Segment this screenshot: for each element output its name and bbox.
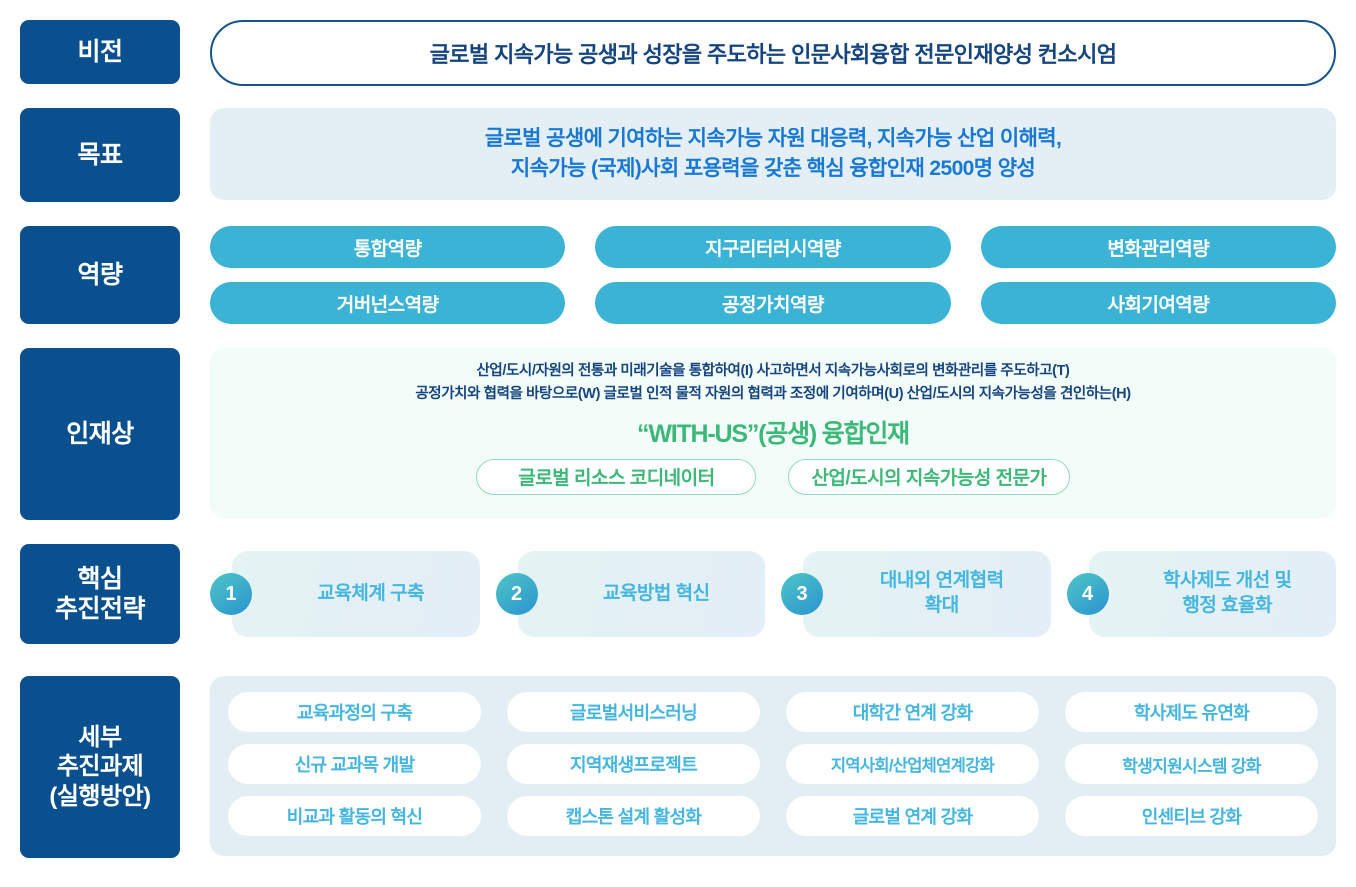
task-pill[interactable]: 교육과정의 구축: [228, 692, 481, 732]
talent-panel: 산업/도시/자원의 전통과 미래기술을 통합하여(I) 사고하면서 지속가능사회…: [210, 348, 1336, 518]
task-pill[interactable]: 학사제도 유연화: [1065, 692, 1318, 732]
strategy-card[interactable]: 3 대내외 연계협력 확대: [803, 551, 1051, 637]
row-label-talent: 인재상: [20, 348, 180, 520]
vision-statement-text: 글로벌 지속가능 공생과 성장을 주도하는 인문사회융합 전문인재양성 컨소시엄: [430, 37, 1117, 69]
competency-pill[interactable]: 지구리터러시역량: [595, 226, 950, 268]
task-pill[interactable]: 지역재생프로젝트: [507, 744, 760, 784]
competency-grid: 통합역량 지구리터러시역량 변화관리역량 거버넌스역량 공정가치역량 사회기여역…: [210, 226, 1336, 324]
strategy-card-label: 교육체계 구축: [317, 582, 424, 607]
talent-headline: “WITH-US”(공생) 융합인재: [637, 414, 909, 450]
goal-line-2: 지속가능 (국제)사회 포용력을 갖춘 핵심 융합인재 2500명 양성: [511, 154, 1035, 184]
row-talent: 인재상 산업/도시/자원의 전통과 미래기술을 통합하여(I) 사고하면서 지속…: [0, 348, 1356, 520]
row-tasks: 세부 추진과제 (실행방안) 교육과정의 구축 글로벌서비스러닝 대학간 연계 …: [0, 676, 1356, 858]
strategy-number-badge: 2: [496, 573, 538, 615]
strategy-diagram: 비전 글로벌 지속가능 공생과 성장을 주도하는 인문사회융합 전문인재양성 컨…: [0, 0, 1356, 887]
row-goal: 목표 글로벌 공생에 기여하는 지속가능 자원 대응력, 지속가능 산업 이해력…: [0, 108, 1356, 202]
strategy-card-label: 대내외 연계협력 확대: [880, 569, 1004, 618]
task-pill[interactable]: 글로벌 연계 강화: [786, 796, 1039, 836]
goal-line-1: 글로벌 공생에 기여하는 지속가능 자원 대응력, 지속가능 산업 이해력,: [485, 124, 1062, 154]
talent-pill-group: 글로벌 리소스 코디네이터 산업/도시의 지속가능성 전문가: [476, 459, 1069, 495]
row-competency: 역량 통합역량 지구리터러시역량 변화관리역량 거버넌스역량 공정가치역량 사회…: [0, 226, 1356, 324]
row-content-strategy: 1 교육체계 구축 2 교육방법 혁신 3 대내외 연계협력 확대 4 학사제도…: [210, 551, 1336, 637]
tasks-panel: 교육과정의 구축 글로벌서비스러닝 대학간 연계 강화 학사제도 유연화 신규 …: [210, 676, 1336, 856]
row-label-strategy: 핵심 추진전략: [20, 544, 180, 644]
competency-pill[interactable]: 거버넌스역량: [210, 282, 565, 324]
strategy-number-badge: 1: [210, 573, 252, 615]
competency-pill[interactable]: 사회기여역량: [981, 282, 1336, 324]
row-content-vision: 글로벌 지속가능 공생과 성장을 주도하는 인문사회융합 전문인재양성 컨소시엄: [210, 20, 1336, 86]
strategy-card-group: 1 교육체계 구축 2 교육방법 혁신 3 대내외 연계협력 확대 4 학사제도…: [210, 551, 1336, 637]
strategy-card[interactable]: 1 교육체계 구축: [232, 551, 480, 637]
task-pill[interactable]: 대학간 연계 강화: [786, 692, 1039, 732]
competency-pill[interactable]: 공정가치역량: [595, 282, 950, 324]
task-pill[interactable]: 비교과 활동의 혁신: [228, 796, 481, 836]
talent-pill[interactable]: 글로벌 리소스 코디네이터: [476, 459, 756, 495]
task-pill[interactable]: 인센티브 강화: [1065, 796, 1318, 836]
task-pill[interactable]: 글로벌서비스러닝: [507, 692, 760, 732]
talent-pill[interactable]: 산업/도시의 지속가능성 전문가: [788, 459, 1069, 495]
vision-statement-box: 글로벌 지속가능 공생과 성장을 주도하는 인문사회융합 전문인재양성 컨소시엄: [210, 20, 1336, 86]
competency-pill[interactable]: 변화관리역량: [981, 226, 1336, 268]
competency-pill[interactable]: 통합역량: [210, 226, 565, 268]
talent-description-line-1: 산업/도시/자원의 전통과 미래기술을 통합하여(I) 사고하면서 지속가능사회…: [415, 360, 1130, 383]
task-pill[interactable]: 캡스톤 설계 활성화: [507, 796, 760, 836]
row-strategy: 핵심 추진전략 1 교육체계 구축 2 교육방법 혁신 3 대내외 연계협력 확…: [0, 544, 1356, 644]
talent-description-line-2: 공정가치와 협력을 바탕으로(W) 글로벌 인적 물적 자원의 협력과 조정에 …: [415, 383, 1130, 406]
strategy-number-badge: 4: [1067, 573, 1109, 615]
strategy-card[interactable]: 4 학사제도 개선 및 행정 효율화: [1089, 551, 1337, 637]
task-pill[interactable]: 신규 교과목 개발: [228, 744, 481, 784]
row-label-goal: 목표: [20, 108, 180, 202]
tasks-grid: 교육과정의 구축 글로벌서비스러닝 대학간 연계 강화 학사제도 유연화 신규 …: [228, 692, 1318, 840]
strategy-number-badge: 3: [781, 573, 823, 615]
row-content-tasks: 교육과정의 구축 글로벌서비스러닝 대학간 연계 강화 학사제도 유연화 신규 …: [210, 676, 1336, 856]
row-label-vision: 비전: [20, 20, 180, 84]
talent-description: 산업/도시/자원의 전통과 미래기술을 통합하여(I) 사고하면서 지속가능사회…: [415, 360, 1130, 407]
task-pill[interactable]: 지역사회/산업체연계강화: [786, 744, 1039, 784]
row-content-talent: 산업/도시/자원의 전통과 미래기술을 통합하여(I) 사고하면서 지속가능사회…: [210, 348, 1336, 518]
row-content-competency: 통합역량 지구리터러시역량 변화관리역량 거버넌스역량 공정가치역량 사회기여역…: [210, 226, 1336, 324]
row-vision: 비전 글로벌 지속가능 공생과 성장을 주도하는 인문사회융합 전문인재양성 컨…: [0, 20, 1356, 84]
strategy-card-label: 학사제도 개선 및 행정 효율화: [1163, 569, 1291, 618]
row-content-goal: 글로벌 공생에 기여하는 지속가능 자원 대응력, 지속가능 산업 이해력, 지…: [210, 108, 1336, 200]
goal-statement-box: 글로벌 공생에 기여하는 지속가능 자원 대응력, 지속가능 산업 이해력, 지…: [210, 108, 1336, 200]
row-label-tasks: 세부 추진과제 (실행방안): [20, 676, 180, 858]
strategy-card[interactable]: 2 교육방법 혁신: [518, 551, 766, 637]
row-label-competency: 역량: [20, 226, 180, 324]
strategy-card-label: 교육방법 혁신: [603, 582, 710, 607]
task-pill[interactable]: 학생지원시스템 강화: [1065, 744, 1318, 784]
